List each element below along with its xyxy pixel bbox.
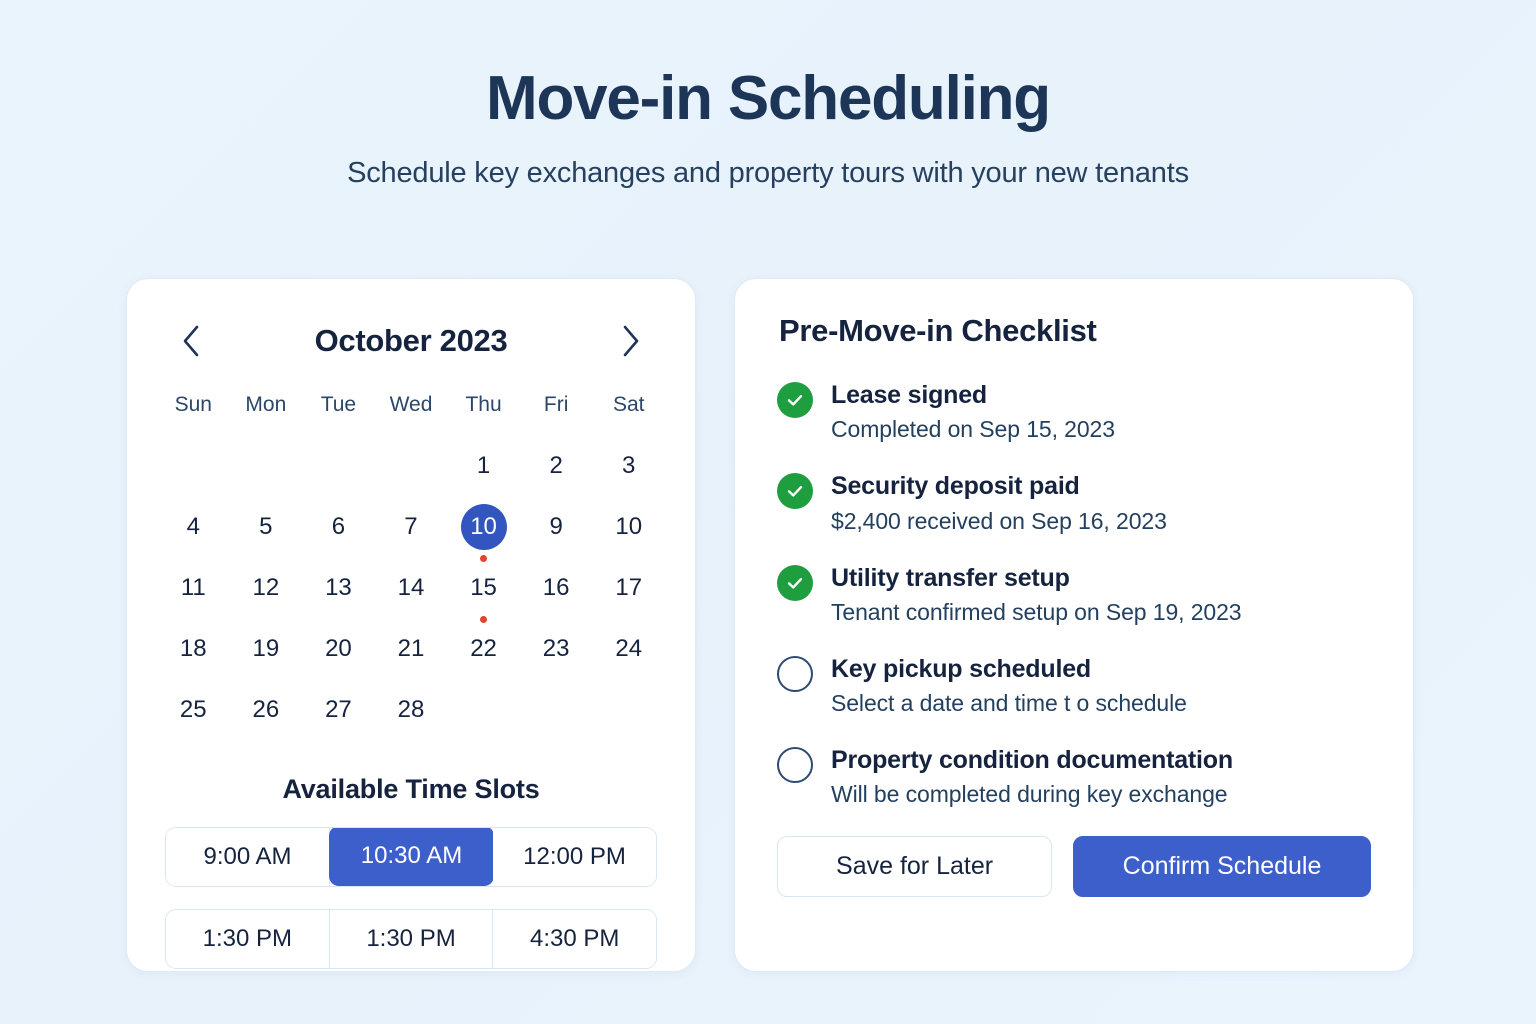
save-for-later-button[interactable]: Save for Later <box>777 836 1052 897</box>
calendar-day-number[interactable]: 24 <box>606 626 652 672</box>
time-slots-title: Available Time Slots <box>157 774 665 805</box>
calendar-weekday-wed: Wed <box>375 393 448 443</box>
calendar-day-number[interactable]: 18 <box>170 626 216 672</box>
calendar-day-selected[interactable]: 10 <box>447 504 520 565</box>
checklist-item: Utility transfer setupTenant confirmed s… <box>777 562 1371 626</box>
calendar-day[interactable]: 9 <box>520 504 593 565</box>
checklist-item-text: Key pickup scheduledSelect a date and ti… <box>831 653 1187 717</box>
time-slot-selected[interactable]: 10:30 AM <box>330 827 493 885</box>
calendar-day[interactable]: 3 <box>592 443 665 504</box>
calendar-day-number[interactable]: 26 <box>243 687 289 733</box>
calendar-day[interactable]: 20 <box>302 626 375 687</box>
calendar-event-dot-icon <box>480 616 487 623</box>
time-slot-row: 1:30 PM1:30 PM4:30 PM <box>165 909 657 969</box>
calendar-day[interactable]: 1 <box>447 443 520 504</box>
checklist-item-text: Property condition documentationWill be … <box>831 744 1233 808</box>
calendar-day[interactable]: 16 <box>520 565 593 626</box>
time-slot-row: 9:00 AM10:30 AM12:00 PM <box>165 827 657 887</box>
checklist-item-text: Utility transfer setupTenant confirmed s… <box>831 562 1242 626</box>
calendar-day-number[interactable]: 16 <box>533 565 579 611</box>
checklist-item: Property condition documentationWill be … <box>777 744 1371 808</box>
calendar-day[interactable]: 12 <box>230 565 303 626</box>
calendar-day-number[interactable]: 1 <box>461 443 507 489</box>
calendar-day[interactable]: 11 <box>157 565 230 626</box>
calendar-day[interactable]: 6 <box>302 504 375 565</box>
calendar-day-number[interactable]: 13 <box>315 565 361 611</box>
checklist-item: Lease signedCompleted on Sep 15, 2023 <box>777 379 1371 443</box>
checklist-items: Lease signedCompleted on Sep 15, 2023Sec… <box>777 379 1371 808</box>
calendar-header: October 2023 <box>157 309 665 363</box>
calendar-weekday-sat: Sat <box>592 393 665 443</box>
calendar-day-number[interactable]: 20 <box>315 626 361 672</box>
calendar-day-number[interactable]: 4 <box>170 504 216 550</box>
calendar-weekday-sun: Sun <box>157 393 230 443</box>
calendar-day-number[interactable]: 6 <box>315 504 361 550</box>
checklist-item-description: Tenant confirmed setup on Sep 19, 2023 <box>831 599 1242 626</box>
calendar-day[interactable]: 17 <box>592 565 665 626</box>
chevron-left-icon[interactable] <box>171 319 211 363</box>
page-subtitle: Schedule key exchanges and property tour… <box>0 157 1536 190</box>
checklist-title: Pre-Move-in Checklist <box>777 313 1371 349</box>
calendar-day-number[interactable]: 17 <box>606 565 652 611</box>
calendar-day-number[interactable]: 7 <box>388 504 434 550</box>
calendar-weekday-fri: Fri <box>520 393 593 443</box>
calendar-day[interactable]: 18 <box>157 626 230 687</box>
check-circle-icon[interactable] <box>777 565 813 601</box>
move-in-scheduling-page: Move-in Scheduling Schedule key exchange… <box>0 0 1536 1024</box>
time-slot[interactable]: 4:30 PM <box>493 910 656 968</box>
calendar-day[interactable]: 21 <box>375 626 448 687</box>
calendar-day[interactable]: 7 <box>375 504 448 565</box>
checklist-item-label: Property condition documentation <box>831 745 1233 776</box>
action-buttons: Save for Later Confirm Schedule <box>777 836 1371 897</box>
calendar-day[interactable]: 14 <box>375 565 448 626</box>
calendar-day-number[interactable]: 14 <box>388 565 434 611</box>
empty-circle-icon[interactable] <box>777 656 813 692</box>
time-slot[interactable]: 12:00 PM <box>493 828 656 886</box>
calendar-day[interactable]: 13 <box>302 565 375 626</box>
calendar-day[interactable]: 28 <box>375 687 448 748</box>
calendar-day-number[interactable]: 23 <box>533 626 579 672</box>
calendar-day[interactable]: 2 <box>520 443 593 504</box>
chevron-right-icon[interactable] <box>611 319 651 363</box>
calendar-day-number[interactable]: 10 <box>606 504 652 550</box>
calendar-event-dot-icon <box>480 555 487 562</box>
calendar-day[interactable]: 26 <box>230 687 303 748</box>
checklist-item-label: Key pickup scheduled <box>831 654 1187 685</box>
calendar-weekday-tue: Tue <box>302 393 375 443</box>
checklist-item-label: Security deposit paid <box>831 471 1167 502</box>
time-slots-group: 9:00 AM10:30 AM12:00 PM1:30 PM1:30 PM4:3… <box>157 827 665 969</box>
calendar-day[interactable]: 25 <box>157 687 230 748</box>
calendar-day-number[interactable]: 19 <box>243 626 289 672</box>
checklist-item-text: Security deposit paid$2,400 received on … <box>831 470 1167 534</box>
calendar-day-number[interactable]: 12 <box>243 565 289 611</box>
calendar-weekday-mon: Mon <box>230 393 303 443</box>
check-circle-icon[interactable] <box>777 382 813 418</box>
checklist-item-text: Lease signedCompleted on Sep 15, 2023 <box>831 379 1115 443</box>
checklist-item-description: Select a date and time t o schedule <box>831 690 1187 717</box>
checklist-item-description: $2,400 received on Sep 16, 2023 <box>831 508 1167 535</box>
calendar-day-number[interactable]: 2 <box>533 443 579 489</box>
calendar-day[interactable]: 23 <box>520 626 593 687</box>
empty-circle-icon[interactable] <box>777 747 813 783</box>
calendar-day[interactable]: 10 <box>592 504 665 565</box>
checklist-item: Key pickup scheduledSelect a date and ti… <box>777 653 1371 717</box>
time-slot[interactable]: 1:30 PM <box>166 910 330 968</box>
calendar-month-label: October 2023 <box>315 323 508 359</box>
checklist-item-description: Will be completed during key exchange <box>831 781 1233 808</box>
calendar-card: October 2023 SunMonTueWedThuFriSat123456… <box>126 278 696 972</box>
calendar-day-number[interactable]: 3 <box>606 443 652 489</box>
calendar-day-number[interactable]: 5 <box>243 504 289 550</box>
checklist-item-label: Utility transfer setup <box>831 563 1242 594</box>
calendar-day-number[interactable]: 22 <box>461 626 507 672</box>
calendar-day-number[interactable]: 15 <box>461 565 507 611</box>
calendar-day-number[interactable]: 28 <box>388 687 434 733</box>
confirm-schedule-button[interactable]: Confirm Schedule <box>1073 836 1371 897</box>
calendar-day-number[interactable]: 27 <box>315 687 361 733</box>
calendar-day[interactable]: 22 <box>447 626 520 687</box>
cards-container: October 2023 SunMonTueWedThuFriSat123456… <box>126 278 1414 972</box>
calendar-day-number[interactable]: 11 <box>170 565 216 611</box>
time-slot[interactable]: 9:00 AM <box>166 828 330 886</box>
check-circle-icon[interactable] <box>777 473 813 509</box>
calendar-day[interactable]: 24 <box>592 626 665 687</box>
calendar-day-number[interactable]: 21 <box>388 626 434 672</box>
calendar-day[interactable]: 27 <box>302 687 375 748</box>
checklist-card: Pre-Move-in Checklist Lease signedComple… <box>734 278 1414 972</box>
page-header: Move-in Scheduling Schedule key exchange… <box>0 0 1536 190</box>
calendar-day[interactable]: 15 <box>447 565 520 626</box>
calendar-day-number[interactable]: 9 <box>533 504 579 550</box>
calendar-day[interactable]: 5 <box>230 504 303 565</box>
calendar-day[interactable]: 4 <box>157 504 230 565</box>
time-slot[interactable]: 1:30 PM <box>330 910 494 968</box>
page-title: Move-in Scheduling <box>0 66 1536 131</box>
checklist-item: Security deposit paid$2,400 received on … <box>777 470 1371 534</box>
calendar-grid: SunMonTueWedThuFriSat1234567109101112131… <box>157 393 665 748</box>
calendar-day-number[interactable]: 10 <box>461 504 507 550</box>
calendar-day[interactable]: 19 <box>230 626 303 687</box>
checklist-item-label: Lease signed <box>831 380 1115 411</box>
calendar-weekday-thu: Thu <box>447 393 520 443</box>
checklist-item-description: Completed on Sep 15, 2023 <box>831 416 1115 443</box>
calendar-day-number[interactable]: 25 <box>170 687 216 733</box>
